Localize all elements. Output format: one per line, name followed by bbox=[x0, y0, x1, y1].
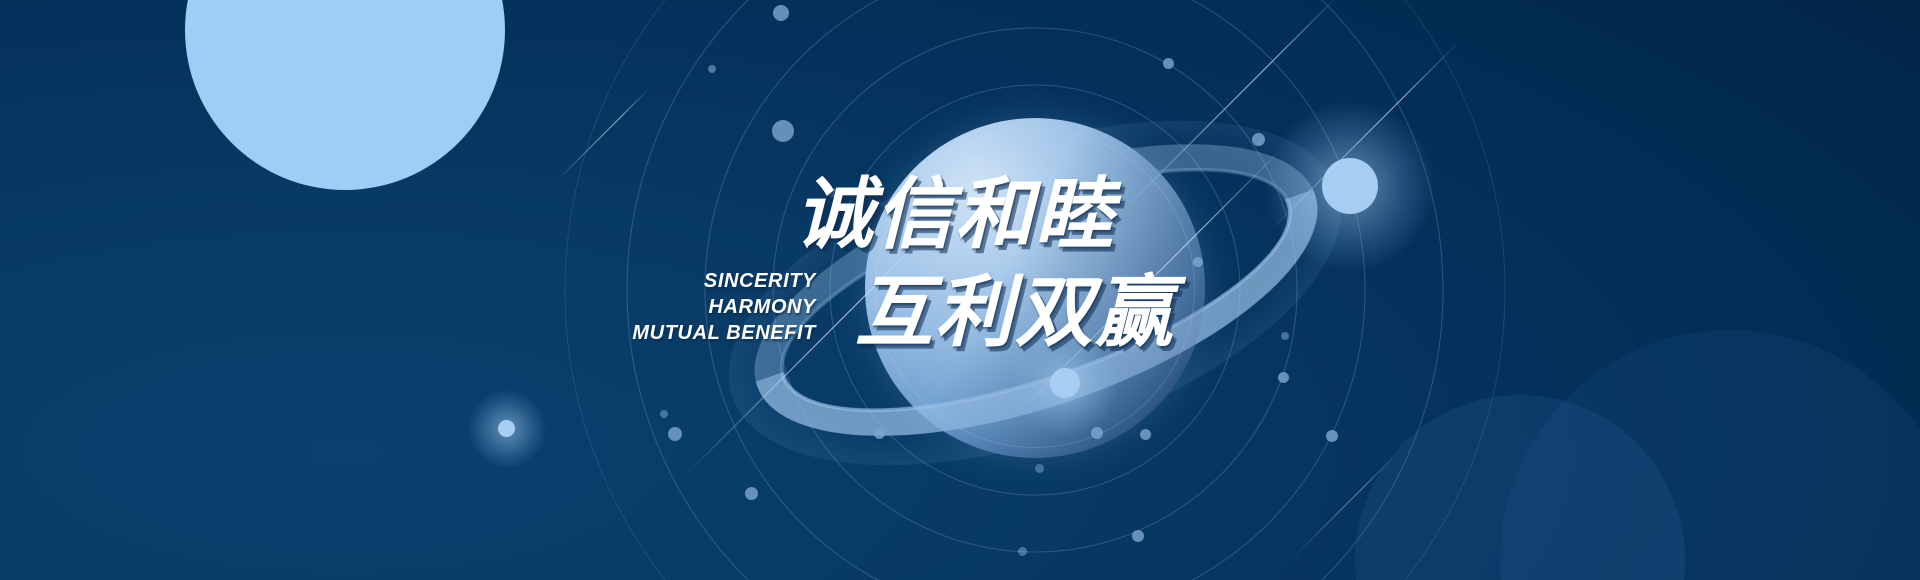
orbit-dot bbox=[1252, 133, 1265, 146]
subheadline-line-2: HARMONY bbox=[560, 294, 816, 320]
orbit-dot bbox=[1163, 58, 1174, 69]
orbit-dot bbox=[708, 65, 716, 73]
orbit-dot bbox=[772, 120, 794, 142]
orbit-dot bbox=[660, 410, 668, 418]
orbit-dot bbox=[874, 428, 885, 439]
orbit-dot bbox=[745, 487, 758, 500]
subheadline-stack: SINCERITY HARMONY MUTUAL BENEFIT bbox=[560, 268, 816, 346]
headline-block: 诚信和睦 互利双赢 SINCERITY HARMONY MUTUAL BENEF… bbox=[560, 150, 1620, 380]
headline-line-2: 互利双赢 bbox=[855, 250, 1175, 362]
hero-banner: 诚信和睦 互利双赢 SINCERITY HARMONY MUTUAL BENEF… bbox=[0, 0, 1920, 580]
orbit-dot bbox=[1326, 430, 1338, 442]
orbit-dot bbox=[668, 427, 682, 441]
subheadline-line-1: SINCERITY bbox=[560, 268, 816, 294]
orbit-dot bbox=[1035, 464, 1044, 473]
headline-line-1: 诚信和睦 bbox=[795, 152, 1115, 264]
orbit-dot bbox=[1132, 530, 1144, 542]
orbit-dot bbox=[1018, 547, 1027, 556]
orbit-dot bbox=[773, 5, 789, 21]
orbit-dot bbox=[1140, 429, 1151, 440]
subheadline-line-3: MUTUAL BENEFIT bbox=[560, 320, 816, 346]
glow-dot-small bbox=[498, 420, 515, 437]
decor-circle-top-left bbox=[185, 0, 505, 190]
